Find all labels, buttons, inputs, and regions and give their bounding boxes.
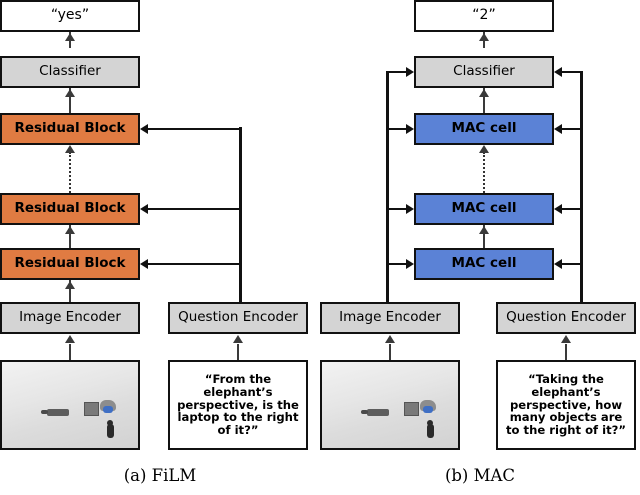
arrowhead-cell2 — [479, 226, 489, 234]
question-text: “Taking the elephant’s perspective, how … — [503, 373, 629, 438]
question-encoder-mac: Question Encoder — [496, 302, 636, 334]
classifier-label: Classifier — [453, 64, 515, 79]
arrowhead-question-classifier — [554, 67, 562, 77]
question-encoder-label: Question Encoder — [506, 310, 626, 325]
film-film-line-2 — [148, 208, 240, 210]
question-bus-film — [239, 127, 242, 302]
question-encoder-film: Question Encoder — [168, 302, 308, 334]
arrowhead-question-cell2 — [554, 204, 562, 214]
question-text-box-film: “From the elephant’s perspective, is the… — [168, 360, 308, 450]
connector-dotted-cells — [483, 152, 485, 193]
arrowhead-to-classifier — [479, 89, 489, 97]
arrowhead-image-cell3 — [406, 124, 414, 134]
image-encoder-label: Image Encoder — [339, 310, 441, 325]
arrowhead-to-classifier — [65, 89, 75, 97]
connector-scene-to-imgenc — [389, 344, 391, 360]
scene-object-person — [427, 424, 434, 438]
question-line-classifier — [562, 71, 582, 73]
mac-cell-label: MAC cell — [452, 201, 517, 216]
arrowhead-qenc — [561, 335, 571, 343]
residual-block-label: Residual Block — [14, 121, 125, 136]
question-text-box-mac: “Taking the elephant’s perspective, how … — [496, 360, 636, 450]
scene-object-elephant — [100, 400, 116, 411]
arrowhead-block1 — [65, 281, 75, 289]
arrowhead-film-3 — [140, 124, 148, 134]
answer-box-film: “yes” — [0, 0, 140, 32]
residual-block-1: Residual Block — [0, 248, 140, 280]
image-line-cell2 — [386, 208, 406, 210]
scene-image-mac — [320, 360, 460, 450]
caption-text: (a) FiLM — [124, 466, 197, 485]
arrowhead-image-classifier — [406, 67, 414, 77]
panel-film: “yes” Classifier Residual Block Residual… — [0, 0, 320, 495]
film-film-line-3 — [148, 128, 240, 130]
arrowhead-question-cell1 — [554, 259, 562, 269]
image-bus-mac — [386, 72, 389, 302]
image-encoder-mac: Image Encoder — [320, 302, 460, 334]
scene-object-elephant — [420, 400, 436, 411]
panel-mac: “2” Classifier MAC cell MAC cell MAC cel… — [320, 0, 640, 495]
scene-object-laptop — [84, 402, 99, 416]
caption-text: (b) MAC — [445, 466, 515, 485]
answer-text: “yes” — [51, 8, 89, 24]
arrowhead-dotted — [479, 145, 489, 153]
arrowhead-film-1 — [140, 259, 148, 269]
scene-object-laptop — [404, 402, 419, 416]
connector-dotted-blocks — [69, 152, 71, 193]
arrowhead-image-cell1 — [406, 259, 414, 269]
residual-block-label: Residual Block — [14, 256, 125, 271]
scene-image-film — [0, 360, 140, 450]
question-text: “From the elephant’s perspective, is the… — [175, 373, 301, 438]
image-encoder-label: Image Encoder — [19, 310, 121, 325]
mac-cell-label: MAC cell — [452, 256, 517, 271]
answer-text: “2” — [472, 8, 495, 24]
arrowhead-image-cell2 — [406, 204, 414, 214]
arrowhead-qenc — [233, 335, 243, 343]
image-line-cell3 — [386, 128, 406, 130]
question-line-cell2 — [562, 208, 582, 210]
connector-question-to-qenc — [237, 344, 239, 360]
question-line-cell3 — [562, 128, 582, 130]
classifier-label: Classifier — [39, 64, 101, 79]
arrowhead-question-cell3 — [554, 124, 562, 134]
mac-cell-1: MAC cell — [414, 248, 554, 280]
question-encoder-label: Question Encoder — [178, 310, 298, 325]
arrowhead-imgenc — [65, 335, 75, 343]
question-line-cell1 — [562, 263, 582, 265]
scene-object-car — [367, 409, 389, 416]
caption-mac: (b) MAC — [320, 466, 640, 485]
question-bus-mac — [580, 71, 583, 302]
arrowhead-to-answer — [65, 33, 75, 41]
caption-film: (a) FiLM — [0, 466, 320, 485]
image-line-classifier — [386, 71, 406, 73]
image-line-cell1 — [386, 263, 406, 265]
arrowhead-block2 — [65, 226, 75, 234]
connector-scene-to-imgenc — [69, 344, 71, 360]
connector-question-to-qenc — [565, 344, 567, 360]
residual-block-2: Residual Block — [0, 193, 140, 225]
arrowhead-imgenc — [385, 335, 395, 343]
mac-cell-label: MAC cell — [452, 121, 517, 136]
arrowhead-to-answer — [479, 33, 489, 41]
scene-object-person — [107, 424, 114, 438]
film-film-line-1 — [148, 263, 240, 265]
mac-cell-2: MAC cell — [414, 193, 554, 225]
classifier-box-film: Classifier — [0, 56, 140, 88]
scene-object-car — [47, 409, 69, 416]
classifier-box-mac: Classifier — [414, 56, 554, 88]
arrowhead-dotted — [65, 145, 75, 153]
image-encoder-film: Image Encoder — [0, 302, 140, 334]
answer-box-mac: “2” — [414, 0, 554, 32]
mac-cell-3: MAC cell — [414, 113, 554, 145]
arrowhead-film-2 — [140, 204, 148, 214]
residual-block-3: Residual Block — [0, 113, 140, 145]
residual-block-label: Residual Block — [14, 201, 125, 216]
